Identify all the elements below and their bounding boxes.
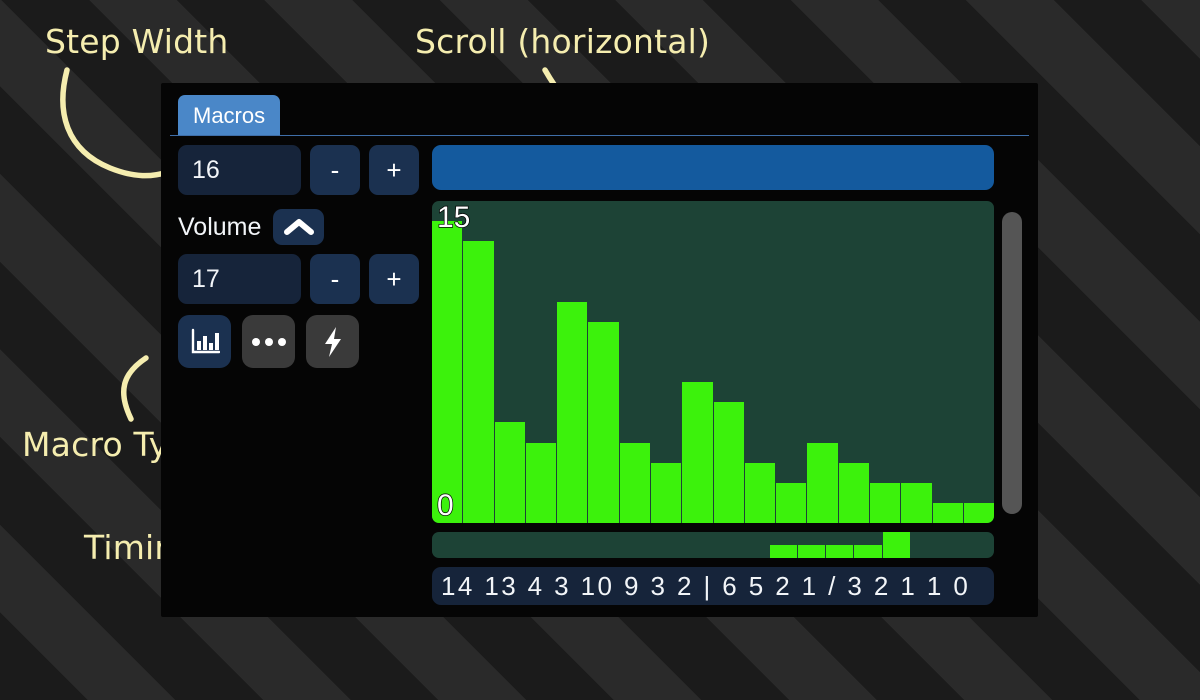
chart-bar[interactable] [776, 483, 807, 523]
annotation-step-width: Step Width [45, 22, 229, 61]
macro-editor-window: Macros 16 - + Volume 17 - + [161, 83, 1038, 617]
volume-value-row: 17 - + [178, 254, 423, 304]
chart-bar[interactable] [620, 443, 651, 524]
step-width-decrement-button[interactable]: - [310, 145, 360, 195]
volume-input[interactable]: 17 [178, 254, 301, 304]
minimap-bar [854, 545, 882, 558]
chart-minimap[interactable] [432, 532, 994, 558]
minimap-bar [770, 545, 798, 558]
minimap-bar [826, 545, 854, 558]
tab-macros[interactable]: Macros [178, 95, 280, 136]
chart-bar[interactable] [682, 382, 713, 523]
chart-bar[interactable] [463, 241, 494, 523]
bar-chart-icon [190, 328, 220, 356]
axis-min-label: 0 [437, 491, 454, 521]
screenshot-root: Step Width Scroll (horizontal) Macro Typ… [0, 0, 1200, 700]
chart-bar[interactable] [933, 503, 964, 523]
chevron-up-icon [284, 218, 314, 236]
horizontal-scrollbar[interactable] [432, 145, 994, 190]
annotation-scroll: Scroll (horizontal) [415, 22, 710, 61]
chart-bar[interactable] [870, 483, 901, 523]
chart-bar[interactable] [432, 221, 463, 523]
chart-area: 15 0 [432, 201, 1022, 523]
vertical-scrollbar[interactable] [1002, 204, 1022, 520]
macro-type-button[interactable] [178, 315, 231, 368]
chart-bar[interactable] [807, 443, 838, 524]
chart-bar[interactable] [901, 483, 932, 523]
macro-values-strip[interactable]: 14 13 4 3 10 9 3 2 | 6 5 2 1 / 3 2 1 1 0 [432, 567, 994, 605]
volume-collapse-button[interactable] [273, 209, 324, 245]
chart-bar[interactable] [557, 302, 588, 523]
volume-increment-button[interactable]: + [369, 254, 419, 304]
chart-bar[interactable] [651, 463, 682, 523]
macro-tool-buttons [178, 315, 423, 368]
vertical-scrollbar-thumb[interactable] [1002, 212, 1022, 514]
chart-bar[interactable] [745, 463, 776, 523]
tab-bar: Macros [161, 83, 1038, 136]
ellipsis-icon [252, 338, 286, 346]
volume-decrement-button[interactable]: - [310, 254, 360, 304]
fast-mode-button[interactable] [306, 315, 359, 368]
control-column: 16 - + Volume 17 - + [178, 145, 423, 368]
macro-bar-chart[interactable]: 15 0 [432, 201, 994, 523]
chart-bar[interactable] [495, 422, 526, 523]
volume-label: Volume [178, 213, 261, 242]
timing-options-button[interactable] [242, 315, 295, 368]
chart-column: 15 0 14 13 4 3 10 9 3 2 | 6 5 2 1 / 3 2 … [432, 145, 1022, 605]
minimap-bar [798, 545, 826, 558]
chart-bar[interactable] [526, 443, 557, 524]
volume-header-row: Volume [178, 204, 423, 250]
axis-max-label: 15 [437, 203, 470, 233]
chart-bars [432, 201, 994, 523]
chart-bar[interactable] [839, 463, 870, 523]
chart-bar[interactable] [964, 503, 994, 523]
chart-bar[interactable] [714, 402, 745, 523]
chart-minimap-bars [432, 532, 994, 558]
tab-underline [170, 135, 1029, 136]
step-width-increment-button[interactable]: + [369, 145, 419, 195]
horizontal-scrollbar-thumb[interactable] [432, 145, 994, 190]
minimap-bar [883, 532, 911, 558]
chart-bar[interactable] [588, 322, 619, 523]
step-width-row: 16 - + [178, 145, 423, 195]
lightning-icon [322, 326, 344, 358]
step-width-input[interactable]: 16 [178, 145, 301, 195]
